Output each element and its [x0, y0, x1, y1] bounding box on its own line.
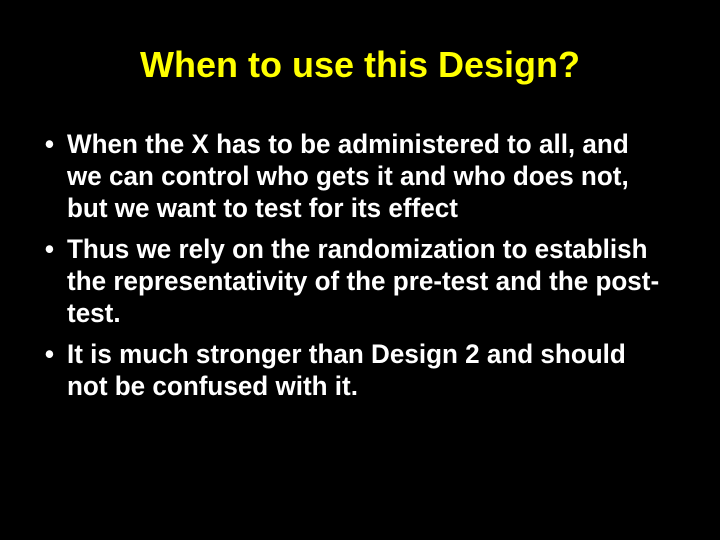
bullet-dot-icon: • — [45, 128, 62, 160]
bullet-dot-icon: • — [45, 338, 62, 370]
presentation-slide: When to use this Design? • When the X ha… — [0, 0, 720, 540]
bullet-item-2-text: Thus we rely on the randomization to est… — [67, 233, 667, 329]
bullet-item-1: • When the X has to be administered to a… — [40, 128, 667, 224]
bullet-item-3: • It is much stronger than Design 2 and … — [40, 338, 667, 402]
bullet-item-1-text: When the X has to be administered to all… — [67, 128, 667, 224]
slide-title: When to use this Design? — [0, 44, 720, 86]
bullet-item-3-text: It is much stronger than Design 2 and sh… — [67, 338, 667, 402]
bullet-item-2: • Thus we rely on the randomization to e… — [40, 233, 667, 329]
bullet-list: • When the X has to be administered to a… — [40, 128, 690, 411]
bullet-dot-icon: • — [45, 233, 62, 265]
